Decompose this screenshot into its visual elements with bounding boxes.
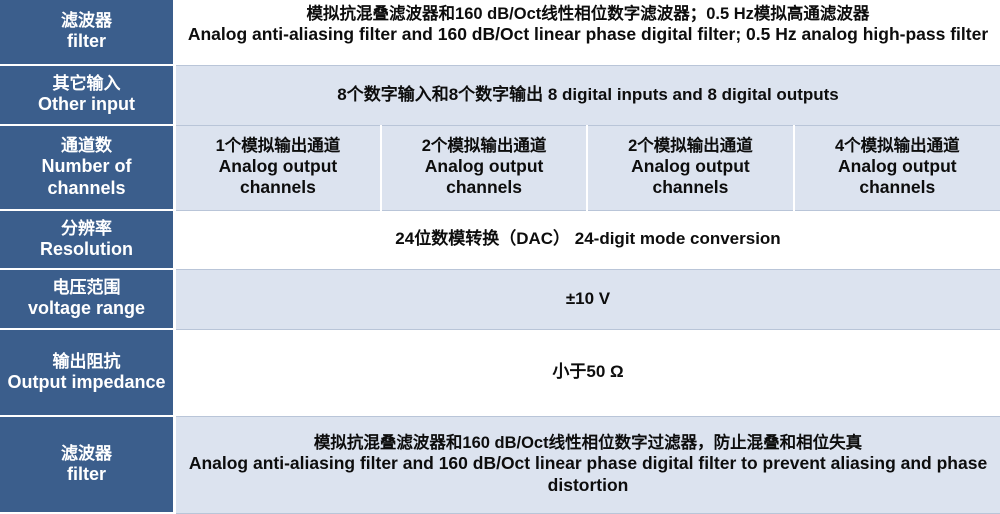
channel-variant-en: Analog output channels: [182, 156, 374, 198]
channel-variant-en: Analog output channels: [388, 156, 580, 198]
row-label-zh: 电压范围: [4, 278, 169, 298]
row-label-zh: 滤波器: [4, 11, 169, 31]
table-row-filter-output: 滤波器 filter 模拟抗混叠滤波器和160 dB/Oct线性相位数字过滤器，…: [0, 416, 1000, 513]
row-label-en: voltage range: [4, 298, 169, 319]
row-value-text: 小于50 Ω: [184, 362, 992, 383]
channel-variant-zh: 4个模拟输出通道: [801, 137, 994, 157]
row-value-en: Analog anti-aliasing filter and 160 dB/O…: [184, 24, 992, 45]
row-label-zh: 通道数: [4, 136, 169, 156]
table-row-number-of-channels: 通道数 Number of channels 1个模拟输出通道 Analog o…: [0, 125, 1000, 210]
row-value-other-input: 8个数字输入和8个数字输出 8 digital inputs and 8 dig…: [175, 65, 1000, 125]
row-value-text: 8个数字输入和8个数字输出 8 digital inputs and 8 dig…: [184, 85, 992, 106]
specification-table: 滤波器 filter 模拟抗混叠滤波器和160 dB/Oct线性相位数字滤波器；…: [0, 0, 1000, 514]
row-label-zh: 滤波器: [4, 444, 169, 464]
row-label-en: filter: [4, 31, 169, 52]
row-value-voltage-range: ±10 V: [175, 269, 1000, 329]
row-value-text: 24位数模转换（DAC） 24-digit mode conversion: [184, 229, 992, 250]
table-row-other-input: 其它输入 Other input 8个数字输入和8个数字输出 8 digital…: [0, 65, 1000, 125]
channel-variant-cell-2: 2个模拟输出通道 Analog output channels: [381, 125, 587, 210]
row-value-en: Analog anti-aliasing filter and 160 dB/O…: [184, 453, 992, 496]
channel-variant-cell-1: 1个模拟输出通道 Analog output channels: [175, 125, 381, 210]
channel-variant-cell-4: 4个模拟输出通道 Analog output channels: [794, 125, 1000, 210]
row-value-zh: 模拟抗混叠滤波器和160 dB/Oct线性相位数字过滤器，防止混叠和相位失真: [184, 433, 992, 453]
table-row-filter-input: 滤波器 filter 模拟抗混叠滤波器和160 dB/Oct线性相位数字滤波器；…: [0, 0, 1000, 65]
channel-variant-en: Analog output channels: [594, 156, 786, 198]
row-label-en: Resolution: [4, 239, 169, 260]
row-label-en: Output impedance: [4, 372, 169, 393]
row-label-zh: 分辨率: [4, 219, 169, 239]
channel-variant-cell-3: 2个模拟输出通道 Analog output channels: [587, 125, 793, 210]
table-row-resolution: 分辨率 Resolution 24位数模转换（DAC） 24-digit mod…: [0, 210, 1000, 269]
row-label-voltage-range: 电压范围 voltage range: [0, 269, 175, 329]
channel-variant-zh: 2个模拟输出通道: [388, 137, 580, 157]
row-label-zh: 输出阻抗: [4, 352, 169, 372]
table-row-output-impedance: 输出阻抗 Output impedance 小于50 Ω: [0, 329, 1000, 416]
row-value-filter: 模拟抗混叠滤波器和160 dB/Oct线性相位数字滤波器；0.5 Hz模拟高通滤…: [175, 0, 1000, 65]
row-value-zh: 模拟抗混叠滤波器和160 dB/Oct线性相位数字滤波器；0.5 Hz模拟高通滤…: [184, 4, 992, 24]
row-label-other-input: 其它输入 Other input: [0, 65, 175, 125]
row-label-filter-output: 滤波器 filter: [0, 416, 175, 513]
row-label-output-impedance: 输出阻抗 Output impedance: [0, 329, 175, 416]
table-row-voltage-range: 电压范围 voltage range ±10 V: [0, 269, 1000, 329]
row-value-text: ±10 V: [184, 289, 992, 310]
channel-variant-en: Analog output channels: [801, 156, 994, 198]
row-label-filter: 滤波器 filter: [0, 0, 175, 65]
row-label-zh: 其它输入: [4, 74, 169, 94]
row-value-filter-output: 模拟抗混叠滤波器和160 dB/Oct线性相位数字过滤器，防止混叠和相位失真 A…: [175, 416, 1000, 513]
row-label-number-of-channels: 通道数 Number of channels: [0, 125, 175, 210]
row-label-en: filter: [4, 464, 169, 485]
row-label-en: Other input: [4, 94, 169, 115]
row-label-en: Number of channels: [4, 156, 169, 198]
channel-variant-zh: 1个模拟输出通道: [182, 137, 374, 157]
row-value-resolution: 24位数模转换（DAC） 24-digit mode conversion: [175, 210, 1000, 269]
row-value-output-impedance: 小于50 Ω: [175, 329, 1000, 416]
row-label-resolution: 分辨率 Resolution: [0, 210, 175, 269]
channel-variant-zh: 2个模拟输出通道: [594, 137, 786, 157]
